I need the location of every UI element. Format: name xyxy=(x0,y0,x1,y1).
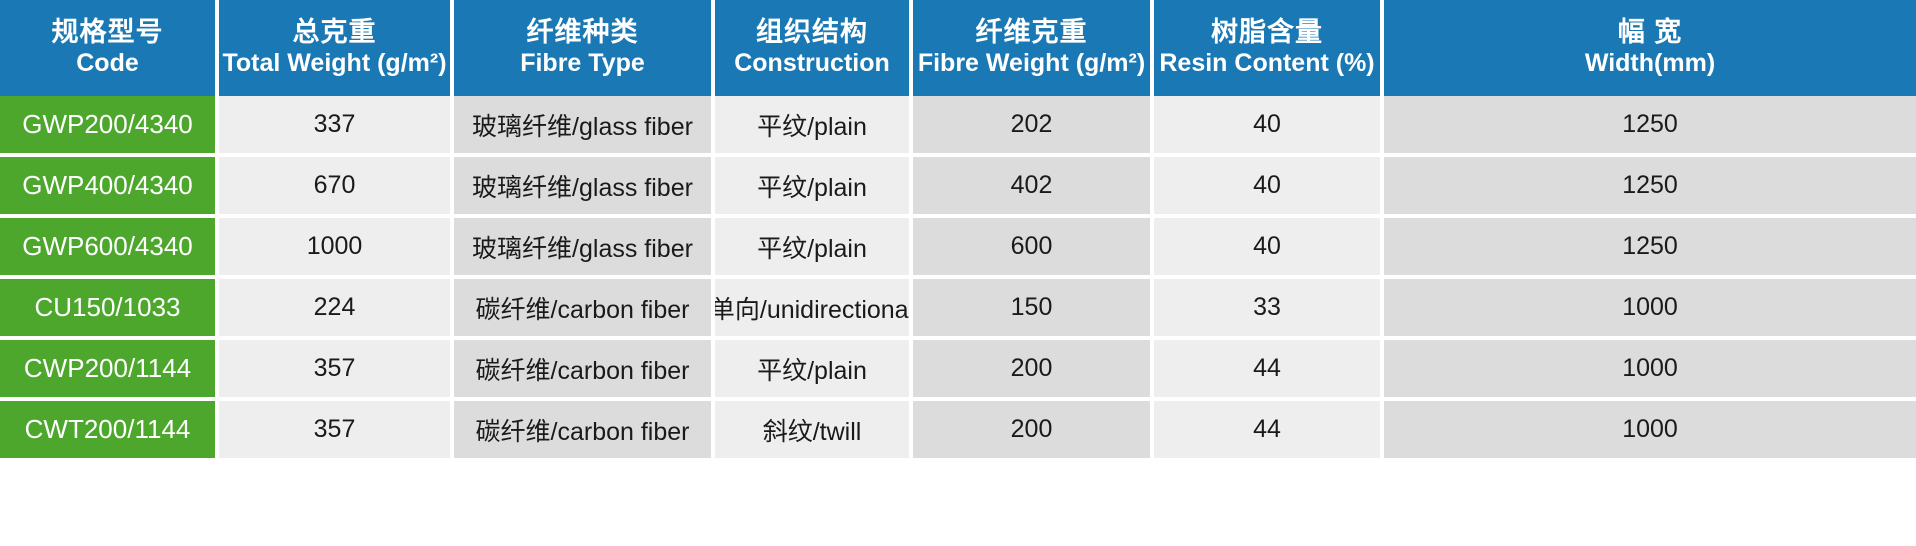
column-header-construction-en: Construction xyxy=(734,49,890,77)
cell-construction: 斜纹/twill xyxy=(715,401,909,458)
cell-fibre_type: 玻璃纤维/glass fiber xyxy=(454,96,711,153)
cell-construction: 平纹/plain xyxy=(715,96,909,153)
column-header-total-weight-en: Total Weight (g/m²) xyxy=(222,49,446,77)
cell-resin: 33 xyxy=(1154,279,1380,336)
cell-fibre_type: 玻璃纤维/glass fiber xyxy=(454,157,711,214)
cell-resin: 44 xyxy=(1154,401,1380,458)
cell-total_weight: 357 xyxy=(219,340,450,397)
table-header-row: 规格型号 Code 总克重 Total Weight (g/m²) 纤维种类 F… xyxy=(0,0,1916,96)
column-header-total-weight: 总克重 Total Weight (g/m²) xyxy=(219,0,450,96)
column-header-fibre-weight-en: Fibre Weight (g/m²) xyxy=(918,49,1145,77)
cell-code[interactable]: CU150/1033 xyxy=(0,279,215,336)
cell-fibre_weight: 202 xyxy=(913,96,1150,153)
column-header-construction: 组织结构 Construction xyxy=(715,0,909,96)
column-header-resin-content: 树脂含量 Resin Content (%) xyxy=(1154,0,1380,96)
cell-width: 1000 xyxy=(1384,340,1916,397)
cell-code[interactable]: CWT200/1144 xyxy=(0,401,215,458)
cell-code[interactable]: GWP400/4340 xyxy=(0,157,215,214)
column-header-construction-cn: 组织结构 xyxy=(756,17,868,47)
column-header-width: 幅 宽 Width(mm) xyxy=(1384,0,1916,96)
cell-resin: 44 xyxy=(1154,340,1380,397)
cell-width: 1250 xyxy=(1384,157,1916,214)
cell-code[interactable]: CWP200/1144 xyxy=(0,340,215,397)
cell-fibre_weight: 402 xyxy=(913,157,1150,214)
cell-resin: 40 xyxy=(1154,157,1380,214)
cell-construction: 平纹/plain xyxy=(715,218,909,275)
table-body: GWP200/4340337玻璃纤维/glass fiber平纹/plain20… xyxy=(0,96,1916,546)
cell-total_weight: 1000 xyxy=(219,218,450,275)
cell-fibre_type: 玻璃纤维/glass fiber xyxy=(454,218,711,275)
cell-fibre_weight: 200 xyxy=(913,340,1150,397)
cell-code[interactable]: GWP200/4340 xyxy=(0,96,215,153)
cell-fibre_weight: 150 xyxy=(913,279,1150,336)
column-header-fibre-weight-cn: 纤维克重 xyxy=(976,17,1088,47)
column-header-width-en: Width(mm) xyxy=(1585,49,1715,77)
column-header-resin-content-en: Resin Content (%) xyxy=(1159,49,1374,77)
column-header-total-weight-cn: 总克重 xyxy=(293,17,377,47)
table-row: GWP200/4340337玻璃纤维/glass fiber平纹/plain20… xyxy=(0,96,1916,153)
table-row: CU150/1033224碳纤维/carbon fiber单向/unidirec… xyxy=(0,279,1916,336)
cell-construction: 单向/unidirectional xyxy=(715,279,909,336)
table-row: CWP200/1144357碳纤维/carbon fiber平纹/plain20… xyxy=(0,340,1916,397)
column-header-fibre-weight: 纤维克重 Fibre Weight (g/m²) xyxy=(913,0,1150,96)
column-header-fibre-type-cn: 纤维种类 xyxy=(527,17,639,47)
column-header-resin-content-cn: 树脂含量 xyxy=(1211,17,1323,47)
cell-fibre_weight: 600 xyxy=(913,218,1150,275)
cell-width: 1250 xyxy=(1384,218,1916,275)
product-specification-table: 规格型号 Code 总克重 Total Weight (g/m²) 纤维种类 F… xyxy=(0,0,1916,546)
column-header-fibre-type: 纤维种类 Fibre Type xyxy=(454,0,711,96)
cell-fibre_type: 碳纤维/carbon fiber xyxy=(454,401,711,458)
table-row: CWT200/1144357碳纤维/carbon fiber斜纹/twill20… xyxy=(0,401,1916,458)
cell-construction: 平纹/plain xyxy=(715,340,909,397)
cell-fibre_type: 碳纤维/carbon fiber xyxy=(454,340,711,397)
cell-width: 1250 xyxy=(1384,96,1916,153)
cell-total_weight: 670 xyxy=(219,157,450,214)
cell-width: 1000 xyxy=(1384,401,1916,458)
cell-width: 1000 xyxy=(1384,279,1916,336)
column-header-code-en: Code xyxy=(76,49,139,77)
cell-construction: 平纹/plain xyxy=(715,157,909,214)
cell-total_weight: 337 xyxy=(219,96,450,153)
cell-resin: 40 xyxy=(1154,96,1380,153)
cell-fibre_type: 碳纤维/carbon fiber xyxy=(454,279,711,336)
column-header-code: 规格型号 Code xyxy=(0,0,215,96)
cell-fibre_weight: 200 xyxy=(913,401,1150,458)
column-header-fibre-type-en: Fibre Type xyxy=(520,49,645,77)
cell-total_weight: 357 xyxy=(219,401,450,458)
table-row: GWP400/4340670玻璃纤维/glass fiber平纹/plain40… xyxy=(0,157,1916,214)
cell-total_weight: 224 xyxy=(219,279,450,336)
cell-code[interactable]: GWP600/4340 xyxy=(0,218,215,275)
column-header-code-cn: 规格型号 xyxy=(52,17,164,47)
table-row: GWP600/43401000玻璃纤维/glass fiber平纹/plain6… xyxy=(0,218,1916,275)
column-header-width-cn: 幅 宽 xyxy=(1618,17,1683,47)
cell-resin: 40 xyxy=(1154,218,1380,275)
